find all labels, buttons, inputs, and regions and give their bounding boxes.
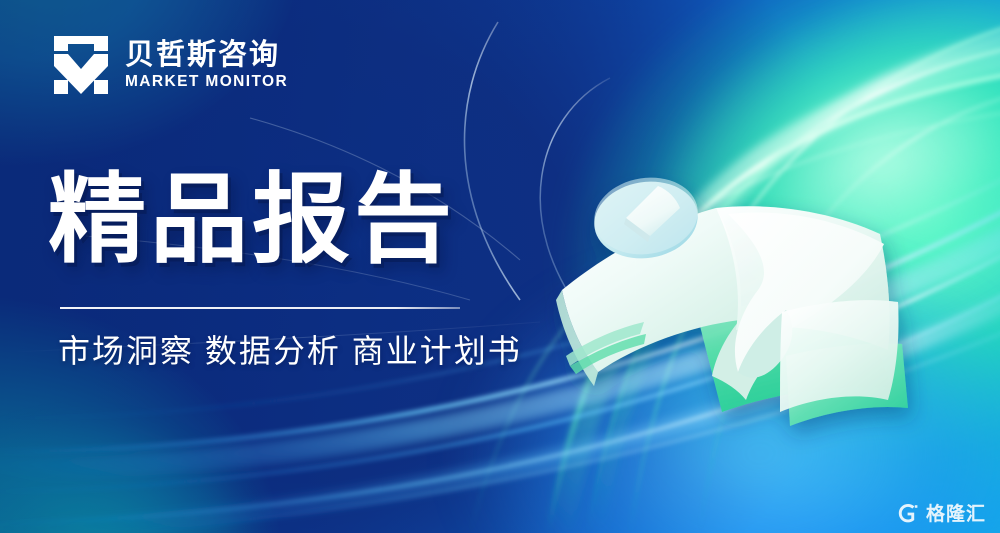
site-watermark: 格隆汇 bbox=[897, 503, 986, 525]
market-monitor-logo-icon bbox=[52, 34, 110, 96]
watermark-text: 格隆汇 bbox=[926, 505, 986, 524]
brand-name-cn: 贝哲斯咨询 bbox=[125, 40, 288, 71]
brand-logo-lockup: 贝哲斯咨询 MARKET MONITOR bbox=[52, 34, 288, 96]
brand-name-block: 贝哲斯咨询 MARKET MONITOR bbox=[125, 40, 288, 91]
headline-divider bbox=[60, 307, 460, 309]
subtitle-text: 市场洞察 数据分析 商业计划书 bbox=[58, 331, 522, 371]
gelonghui-logo-icon bbox=[897, 503, 919, 525]
brand-name-en: MARKET MONITOR bbox=[125, 74, 288, 90]
report-cover-banner: 贝哲斯咨询 MARKET MONITOR 精品报告 市场洞察 数据分析 商业计划… bbox=[0, 0, 1000, 533]
headline-title: 精品报告 bbox=[48, 170, 456, 268]
